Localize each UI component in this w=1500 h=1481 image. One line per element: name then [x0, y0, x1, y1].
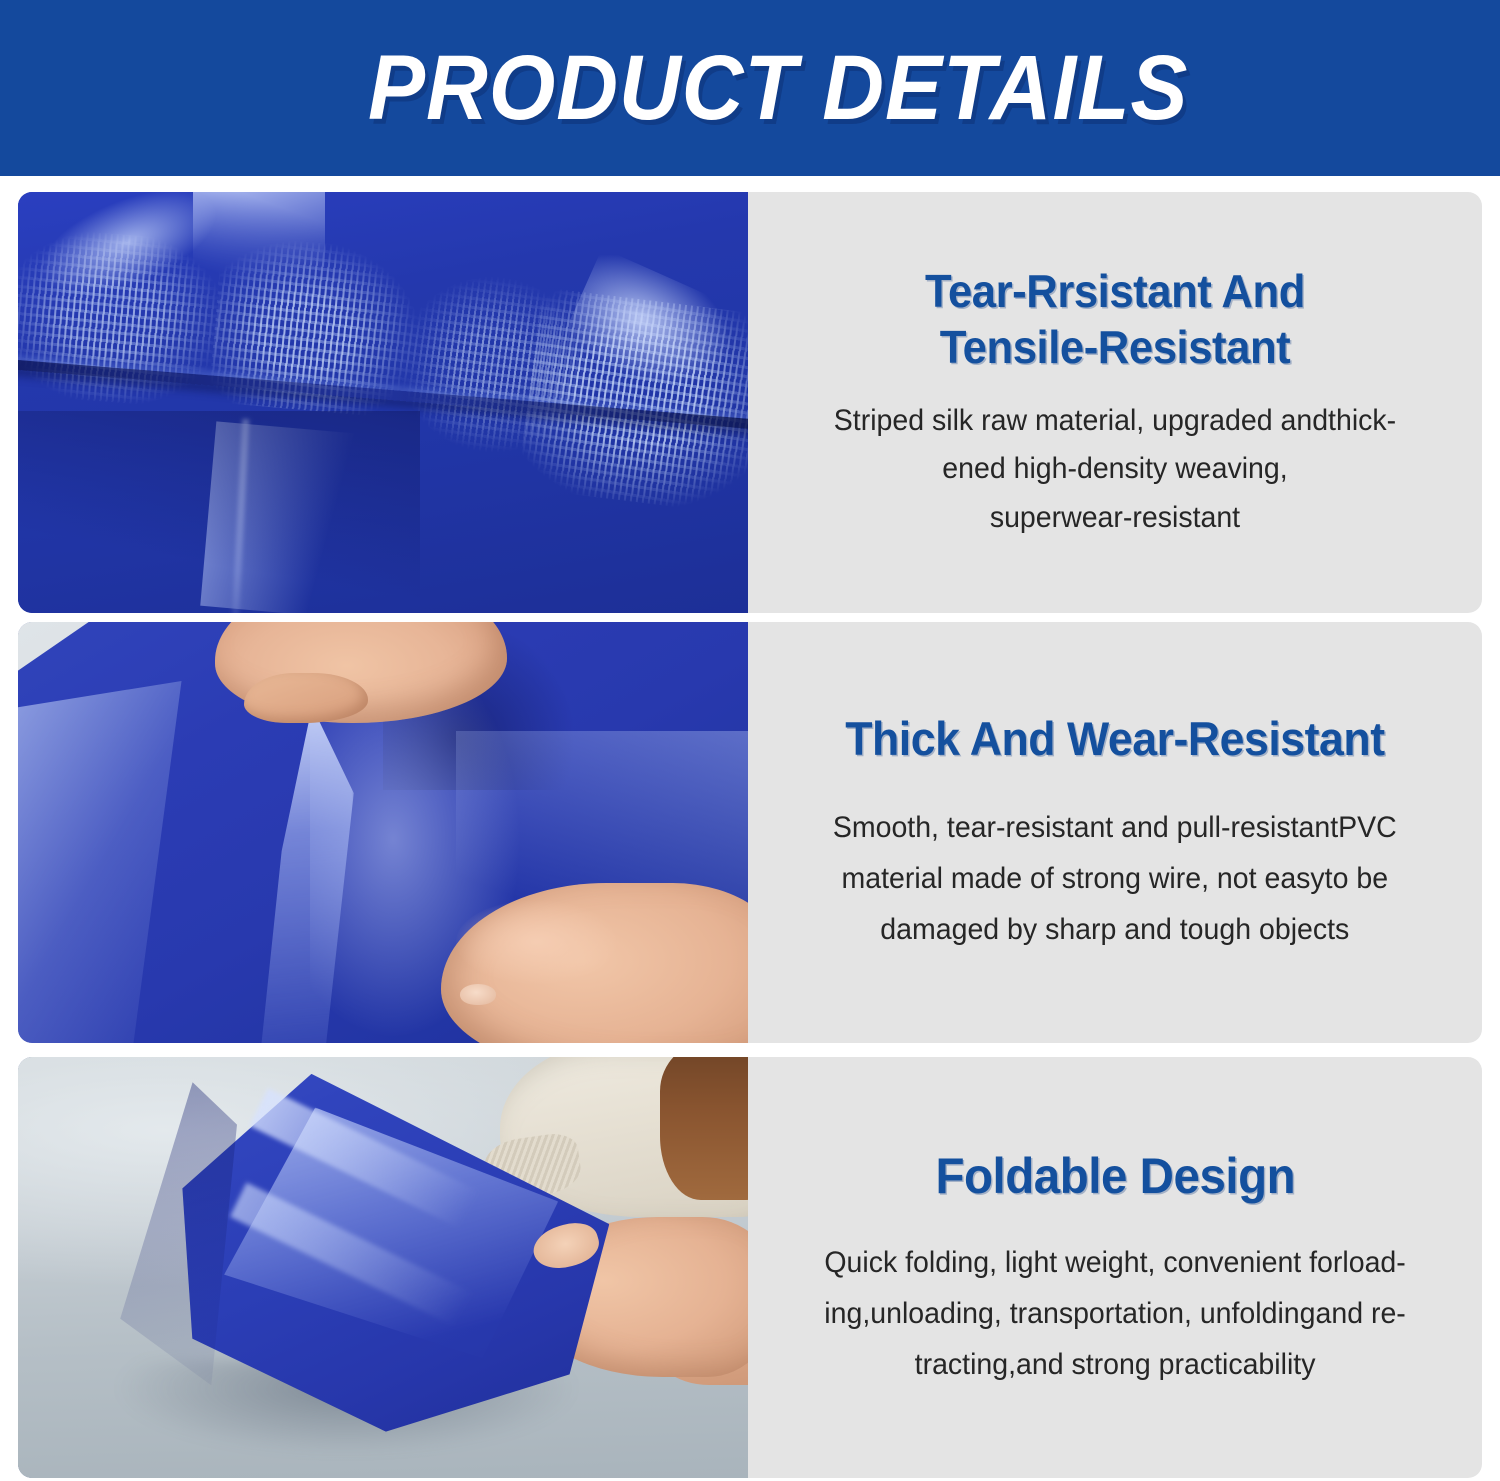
feature-heading-1-line-2: Tensile-Resistant — [940, 321, 1291, 373]
feature-body-3: Quick folding, light weight, convenient … — [824, 1237, 1406, 1390]
feature-body-2-line-2: material made of strong wire, not easyto… — [842, 862, 1389, 895]
feature-text-panel-3: Foldable Design Quick folding, light wei… — [748, 1057, 1482, 1478]
hand-upper-finger — [244, 673, 368, 724]
feature-body-3-line-2: ing,unloading, transportation, unfolding… — [824, 1297, 1406, 1330]
tarp-fabric-image-art — [18, 192, 748, 613]
feature-body-2: Smooth, tear-resistant and pull-resistan… — [833, 802, 1397, 955]
feature-row-1: Tear-Rrsistant And Tensile-Resistant Str… — [18, 192, 1482, 613]
feature-body-1: Striped silk raw material, upgraded andt… — [834, 397, 1396, 543]
feature-row-2: Thick And Wear-Resistant Smooth, tear-re… — [18, 622, 1482, 1043]
hand-lower-thumbnail — [460, 984, 497, 1005]
feature-text-panel-1: Tear-Rrsistant And Tensile-Resistant Str… — [748, 192, 1482, 613]
fabric-shadow — [18, 411, 420, 613]
feature-body-3-line-3: tracting,and strong practicability — [915, 1348, 1316, 1381]
header-banner: PRODUCT DETAILS — [0, 0, 1500, 176]
feature-heading-1: Tear-Rrsistant And Tensile-Resistant — [925, 263, 1305, 375]
hands-pulling-tarp-image-art — [18, 622, 748, 1043]
person-hair — [660, 1057, 748, 1200]
feature-body-1-line-3: superwear-resistant — [990, 501, 1240, 534]
feature-row-3: Foldable Design Quick folding, light wei… — [18, 1057, 1482, 1478]
feature-body-2-line-3: damaged by sharp and tough objects — [880, 913, 1349, 946]
hand-lower-knuckles — [456, 900, 617, 984]
folded-tarp-image-art — [18, 1057, 748, 1478]
feature-heading-3: Foldable Design — [935, 1146, 1295, 1207]
feature-body-3-line-1: Quick folding, light weight, convenient … — [824, 1246, 1405, 1279]
feature-body-2-line-1: Smooth, tear-resistant and pull-resistan… — [833, 811, 1397, 844]
feature-body-1-line-2: ened high-density weaving, — [942, 452, 1287, 485]
feature-heading-1-line-1: Tear-Rrsistant And — [925, 265, 1305, 317]
hands-pulling-tarp-photo — [18, 622, 748, 1043]
feature-body-1-line-1: Striped silk raw material, upgraded andt… — [834, 404, 1396, 437]
feature-text-panel-2: Thick And Wear-Resistant Smooth, tear-re… — [748, 622, 1482, 1043]
tarp-fabric-closeup-photo — [18, 192, 748, 613]
page-title: PRODUCT DETAILS — [368, 42, 1188, 134]
feature-heading-2: Thick And Wear-Resistant — [845, 710, 1384, 767]
product-details-infographic: PRODUCT DETAILS Tear-Rrsistant And Tens — [0, 0, 1500, 1481]
folded-tarp-held-photo — [18, 1057, 748, 1478]
